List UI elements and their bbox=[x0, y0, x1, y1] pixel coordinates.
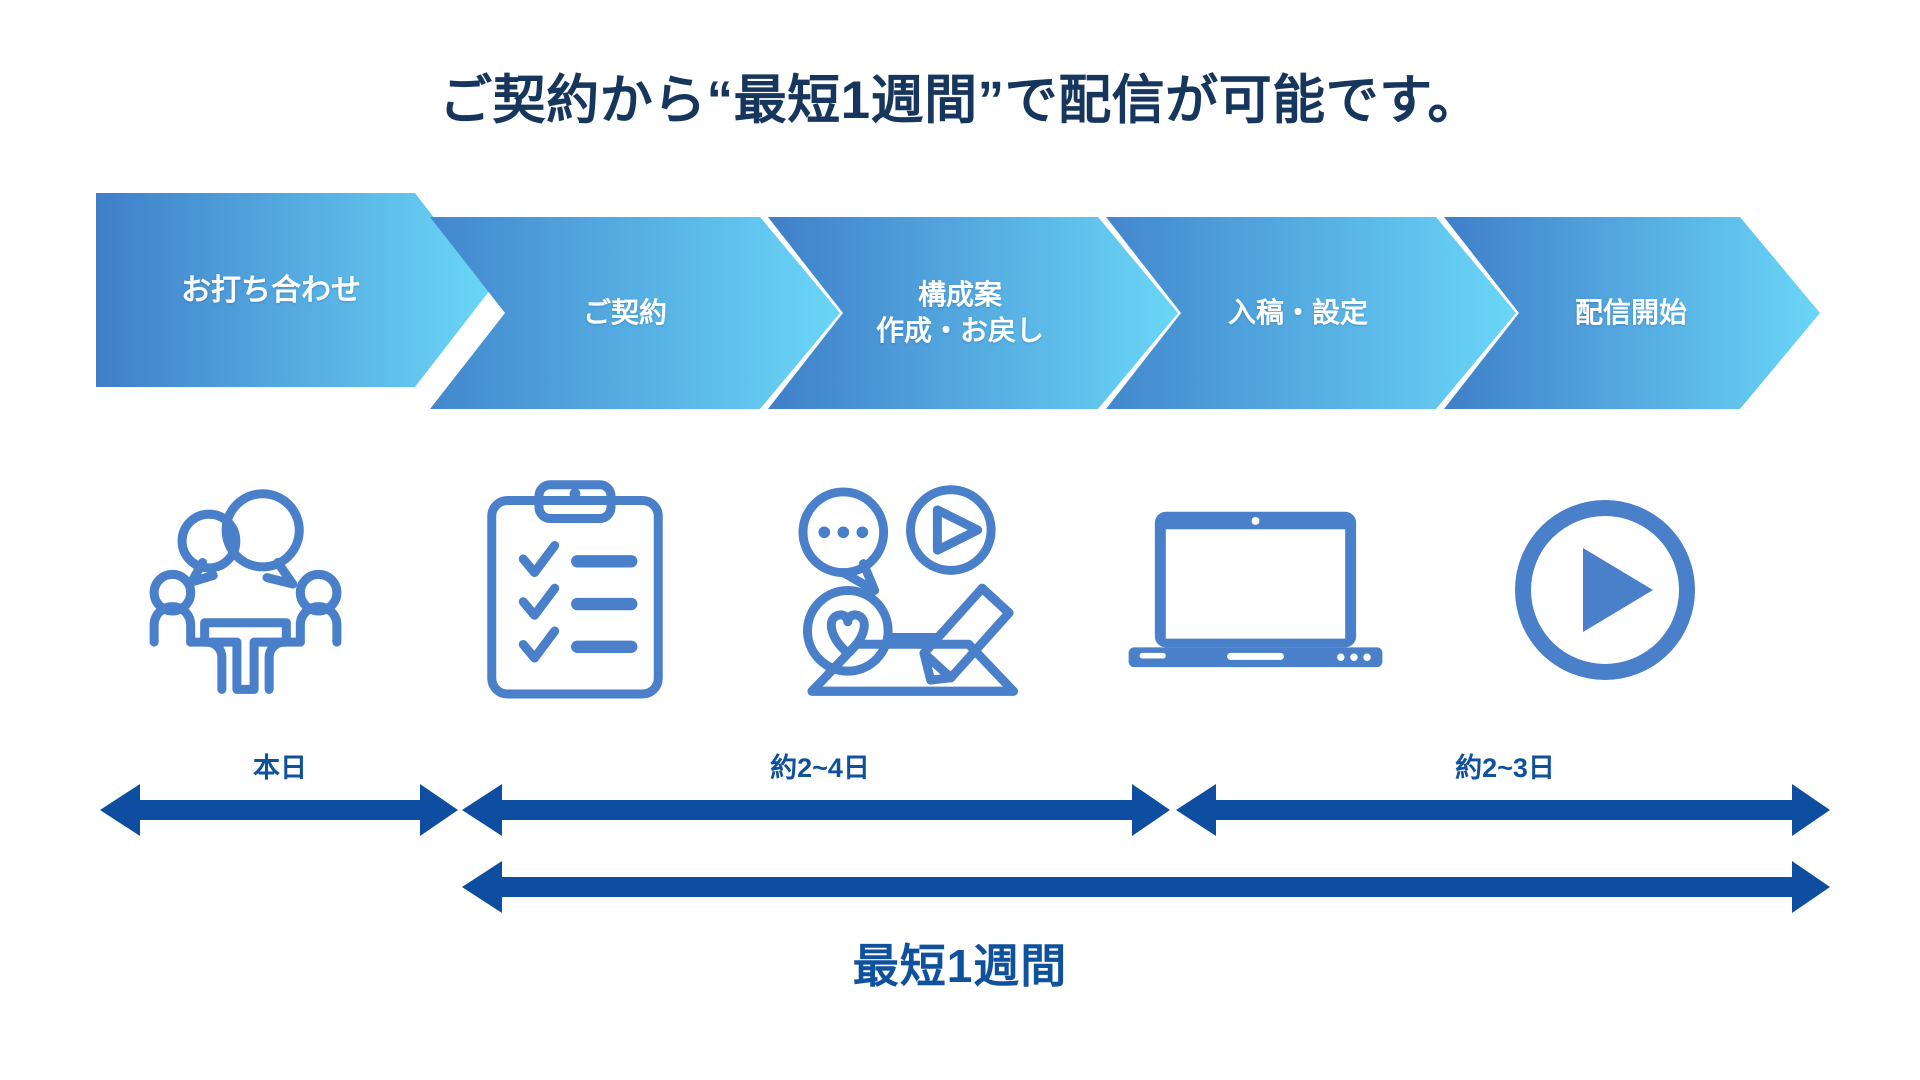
page-title: ご契約から“最短1週間”で配信が可能です。 bbox=[0, 58, 1920, 134]
process-icon-row bbox=[0, 470, 1920, 710]
meeting-people-icon bbox=[138, 483, 353, 698]
chevron-step-2-label: ご契約 bbox=[583, 295, 667, 331]
total-duration-label: 最短1週間 bbox=[0, 930, 1920, 996]
clipboard-checklist-icon bbox=[475, 478, 675, 703]
timeline-arrow-1 bbox=[100, 784, 458, 836]
timeline-arrow-2 bbox=[462, 784, 1170, 836]
timeline-label-3: 約2~3日 bbox=[1220, 746, 1790, 785]
chevron-step-4-label: 入稿・設定 bbox=[1228, 295, 1368, 331]
process-chevron-banner: お打ち合わせ ご契約 構成案 作成・お戻し 入稿・設定 配信開始 bbox=[0, 185, 1920, 410]
chevron-step-1-label: お打ち合わせ bbox=[181, 271, 361, 310]
timeline-total-arrow bbox=[462, 861, 1830, 913]
diagram-canvas: ご契約から“最短1週間”で配信が可能です。 bbox=[0, 0, 1920, 1080]
chevron-step-1[interactable]: お打ち合わせ bbox=[96, 193, 446, 387]
chevron-step-4[interactable]: 入稿・設定 bbox=[1148, 217, 1448, 409]
chevron-step-3[interactable]: 構成案 作成・お戻し bbox=[810, 217, 1110, 409]
icon-slot-2 bbox=[455, 470, 695, 710]
timeline-label-2: 約2~4日 bbox=[510, 746, 1130, 785]
icon-slot-4 bbox=[1120, 470, 1390, 710]
icon-slot-3 bbox=[785, 470, 1035, 710]
content-plan-icon bbox=[788, 483, 1033, 698]
timeline-arrow-3 bbox=[1176, 784, 1830, 836]
chevron-step-2[interactable]: ご契約 bbox=[470, 217, 780, 409]
icon-slot-1 bbox=[125, 470, 365, 710]
chevron-step-5[interactable]: 配信開始 bbox=[1486, 217, 1776, 409]
timeline-label-1: 本日 bbox=[140, 746, 420, 785]
icon-slot-5 bbox=[1480, 470, 1730, 710]
chevron-step-5-label: 配信開始 bbox=[1575, 295, 1687, 331]
play-circle-icon bbox=[1505, 490, 1705, 690]
laptop-icon bbox=[1123, 503, 1388, 678]
timeline-arrows: 本日 約2~4日 約2~3日 bbox=[0, 740, 1920, 960]
chevron-step-3-label-line1: 構成案 bbox=[918, 277, 1002, 313]
chevron-step-3-label-line2: 作成・お戻し bbox=[876, 313, 1044, 349]
